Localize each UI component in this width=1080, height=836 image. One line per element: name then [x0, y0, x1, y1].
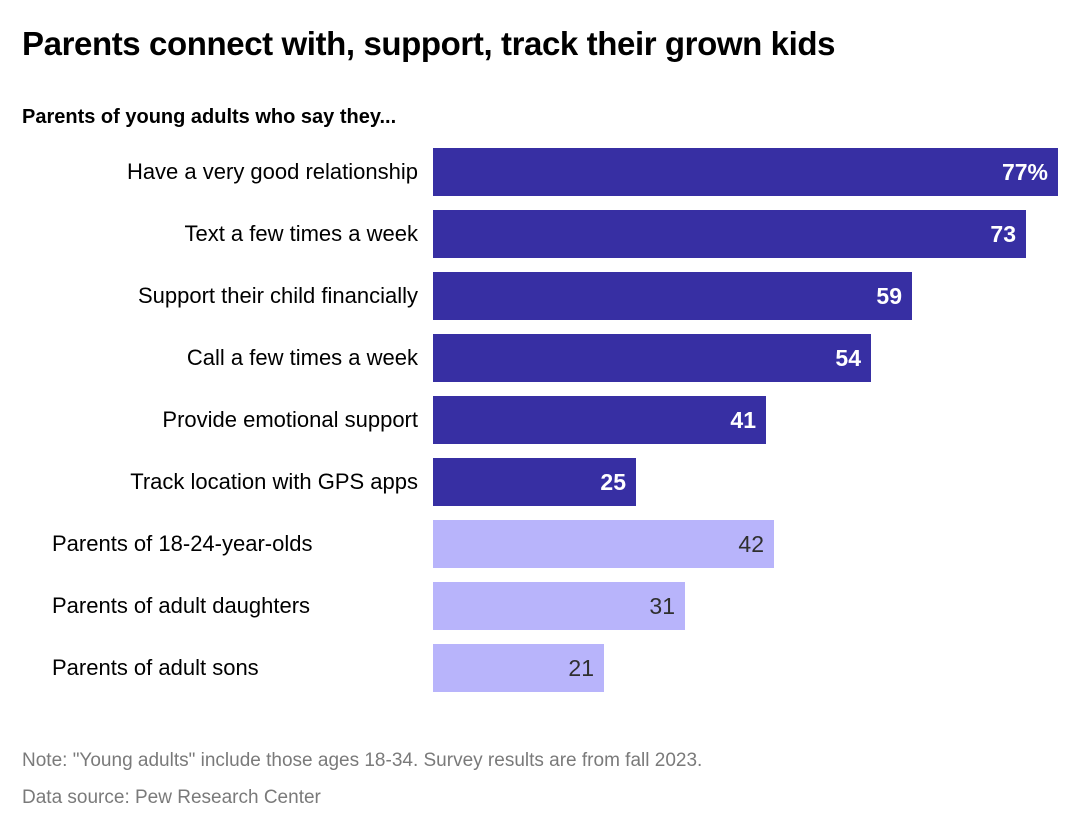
bar-category-label: Parents of 18-24-year-olds	[52, 520, 418, 568]
bar-category-label: Text a few times a week	[22, 210, 418, 258]
bar-track: 77%	[433, 148, 1073, 196]
bar-row: Parents of adult sons21	[0, 644, 1080, 692]
bar-category-label: Parents of adult daughters	[52, 582, 418, 630]
page-title: Parents connect with, support, track the…	[22, 24, 1062, 64]
bar-value-label: 31	[595, 582, 675, 630]
chart-source: Data source: Pew Research Center	[22, 785, 321, 811]
bar-chart-plot-area: Have a very good relationship77%Text a f…	[0, 148, 1080, 710]
bar-row: Have a very good relationship77%	[0, 148, 1080, 196]
chart-note: Note: "Young adults" include those ages …	[22, 748, 702, 774]
bar-track: 21	[433, 644, 1073, 692]
bar-category-label: Provide emotional support	[22, 396, 418, 444]
bar-row: Support their child financially59	[0, 272, 1080, 320]
bar-value-label: 41	[676, 396, 756, 444]
bar-category-label: Track location with GPS apps	[22, 458, 418, 506]
bar-track: 25	[433, 458, 1073, 506]
bar-value-label: 73	[936, 210, 1016, 258]
bar-value-label: 54	[781, 334, 861, 382]
bar-track: 41	[433, 396, 1073, 444]
bar-value-label: 59	[822, 272, 902, 320]
bar-track: 54	[433, 334, 1073, 382]
bar-category-label: Call a few times a week	[22, 334, 418, 382]
bar-category-label: Have a very good relationship	[22, 148, 418, 196]
bar-row: Call a few times a week54	[0, 334, 1080, 382]
bar-row: Text a few times a week73	[0, 210, 1080, 258]
bar-category-label: Parents of adult sons	[52, 644, 418, 692]
chart-figure: Parents connect with, support, track the…	[0, 0, 1080, 836]
bar-category-label: Support their child financially	[22, 272, 418, 320]
bar-track: 73	[433, 210, 1073, 258]
bar-track: 59	[433, 272, 1073, 320]
bar-value-label: 42	[684, 520, 764, 568]
bar-row: Provide emotional support41	[0, 396, 1080, 444]
bar-value-label: 25	[546, 458, 626, 506]
chart-subtitle: Parents of young adults who say they...	[22, 104, 396, 130]
bar-track: 42	[433, 520, 1073, 568]
bar-row: Track location with GPS apps25	[0, 458, 1080, 506]
bar-row: Parents of 18-24-year-olds42	[0, 520, 1080, 568]
bar	[433, 148, 1058, 196]
bar-value-label: 21	[514, 644, 594, 692]
bar-track: 31	[433, 582, 1073, 630]
bar-row: Parents of adult daughters31	[0, 582, 1080, 630]
bar-value-label: 77%	[968, 148, 1048, 196]
